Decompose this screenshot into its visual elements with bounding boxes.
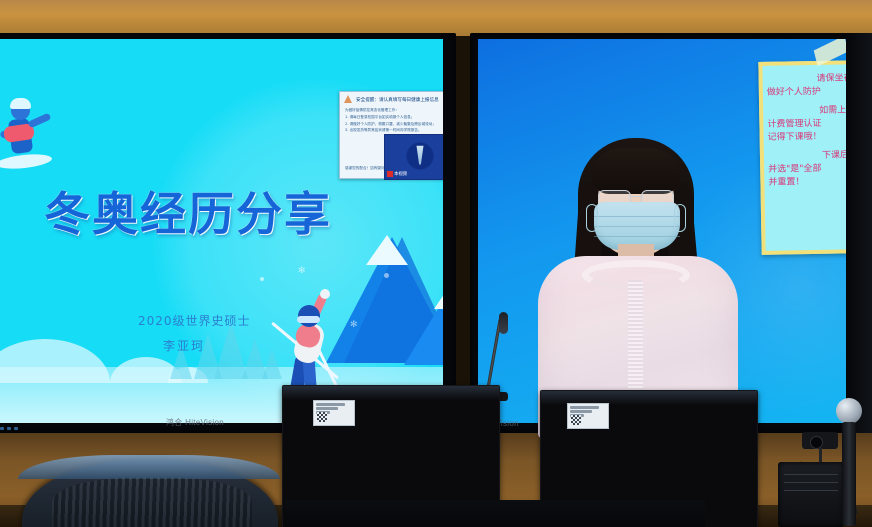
warning-icon [344,95,353,104]
classroom-scene: ✻ ✻ 冬奥经历分享 2020级世界史硕士 李亚珂 [0,0,872,527]
snow-dot [384,273,389,278]
handheld-microphone [836,398,862,526]
popup-line: 为做好疫情防控常态化管理工作： [345,107,443,114]
wood-wall-upper [0,0,872,36]
video-badge-label: 本视频 [394,171,407,177]
asset-sticker [567,403,609,429]
slide-presenter-name: 李亚珂 [163,337,205,354]
mountain-peak-icon [366,235,408,265]
display-left[interactable]: ✻ ✻ 冬奥经历分享 2020级世界史硕士 李亚珂 [0,33,456,433]
snowflake-icon: ✻ [298,265,306,276]
badge-square-icon [387,171,393,177]
snow-dot [260,277,264,281]
asset-sticker [313,400,355,426]
poster-line: 请保坐在 [767,72,859,87]
face-mask [594,202,680,250]
video-thumbnail-panel[interactable]: 本视频 [384,134,443,180]
popup-line: 2. 请做好个人防护，佩戴口罩，减少聚集及跨区域流动； [345,121,443,128]
microphone-head-icon [836,398,862,424]
slide-title: 冬奥经历分享 [44,191,332,237]
mountain-peak-side-icon [434,287,443,309]
microphone-head-icon [499,312,508,334]
snowboarder-illustration [0,81,56,185]
hair-fringe [592,148,680,194]
podium-desk [285,500,705,527]
screen-left[interactable]: ✻ ✻ 冬奥经历分享 2020级世界史硕士 李亚珂 [0,39,443,423]
video-badge: 本视频 [387,171,407,177]
display-brand-label-left: 鸿合 HiteVision [166,417,224,428]
popup-body: 为做好疫情防控常态化管理工作： 1. 请每日登录校园平台如实填报个人信息； 2.… [340,106,443,135]
popup-header: 安全提醒：请认真填写每日健康上报信息 [340,92,443,106]
popup-line: 1. 请每日登录校园平台如实填报个人信息； [345,114,443,121]
slide-subtitle: 2020级世界史硕士 [138,312,251,329]
led-indicator-strip [0,427,18,430]
foreground-chair [22,460,278,527]
display-right-edge [846,33,872,433]
portable-speaker [778,462,844,527]
popup-title: 安全提醒：请认真填写每日健康上报信息 [356,97,439,103]
